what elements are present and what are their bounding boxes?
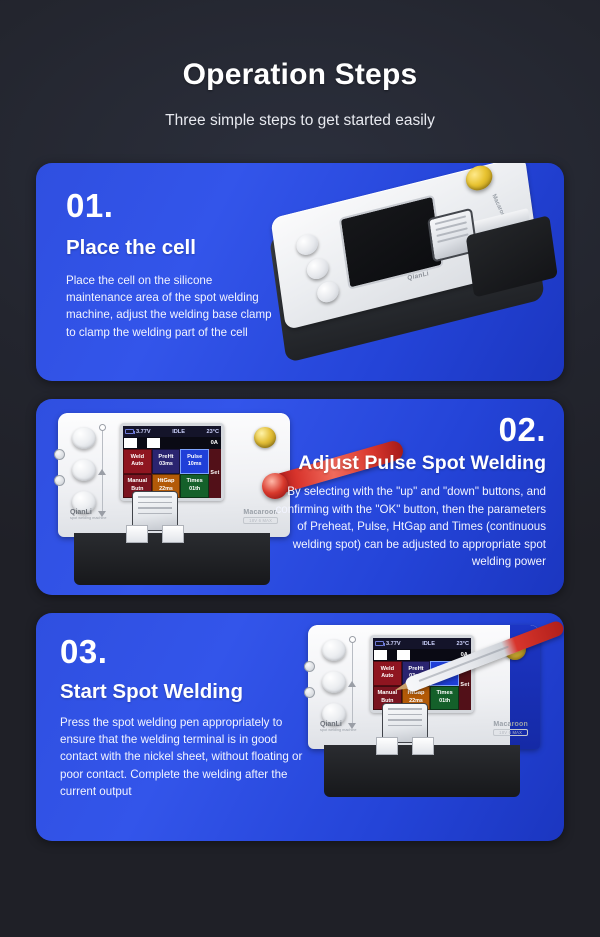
param-times: Times01th	[180, 474, 209, 499]
param-pulse: Pulse10ms	[180, 449, 209, 474]
level-segment	[147, 438, 160, 448]
param-weld: WeldAuto	[373, 661, 402, 686]
step2-number: 02.	[264, 413, 546, 446]
param-times: Times01th	[430, 686, 459, 711]
clamp-ridge	[138, 502, 172, 504]
screen-content: 3.77V IDLE 23°C 0A WeldAut	[123, 426, 221, 498]
page-header: Operation Steps Three simple steps to ge…	[0, 0, 600, 130]
machine-brand: Macaroon 18V 6 MAX	[493, 721, 528, 736]
clamp-ridge	[388, 725, 422, 727]
clamp-ridge	[138, 513, 172, 515]
screen-status: IDLE	[172, 429, 185, 435]
step-card-3[interactable]: 3.77V IDLE 23°C 0A WeldAut	[36, 613, 564, 841]
clamp-jaw-left	[126, 525, 148, 543]
clamp-jaw-left	[376, 737, 398, 755]
battery-icon	[125, 429, 134, 434]
control-knob-2	[322, 671, 346, 693]
machine-controls	[68, 425, 114, 521]
clamp-ridge	[388, 719, 422, 721]
clamp-ridge	[388, 708, 422, 710]
machine-screen-2: 3.77V IDLE 23°C 0A WeldAut	[120, 423, 224, 501]
machine-button-3	[316, 279, 340, 304]
step2-body: By selecting with the "up" and "down" bu…	[264, 483, 546, 570]
control-axis	[352, 643, 353, 727]
machine-button-2	[306, 256, 330, 281]
step-card-1[interactable]: QianLi Macaroon 01. Place the cell Place…	[36, 163, 564, 381]
param-preht: PreHt03ms	[152, 449, 181, 474]
screen-set-label: Set	[209, 449, 221, 498]
level-segment	[374, 650, 387, 660]
control-axis	[102, 431, 103, 515]
step-card-2[interactable]: 3.77V IDLE 23°C 0A WeldAut	[36, 399, 564, 595]
battery-icon	[375, 641, 384, 646]
screen-temperature: 23°C	[207, 429, 220, 435]
level-segment	[397, 650, 410, 660]
level-segment	[124, 438, 137, 448]
step2-text: 02. Adjust Pulse Spot Welding By selecti…	[264, 413, 546, 570]
control-knob-2	[72, 459, 96, 481]
screen-current: 0A	[211, 440, 218, 446]
step1-title: Place the cell	[66, 236, 278, 260]
param-weld: WeldAuto	[123, 449, 152, 474]
page-title: Operation Steps	[0, 58, 600, 92]
step1-illustration: QianLi Macaroon	[250, 163, 564, 381]
screen-statusbar: 3.77V IDLE 23°C	[123, 426, 221, 437]
step2-title: Adjust Pulse Spot Welding	[264, 452, 546, 474]
output-port-1	[54, 449, 65, 460]
step3-number: 03.	[60, 635, 312, 668]
steps-container: QianLi Macaroon 01. Place the cell Place…	[0, 163, 600, 841]
up-arrow-icon	[348, 681, 356, 687]
up-arrow-icon	[98, 469, 106, 475]
machine-controls	[318, 637, 364, 733]
clamp-ridge	[138, 507, 172, 509]
output-port-2	[54, 475, 65, 486]
screen-statusbar: 3.77V IDLE 23°C	[373, 638, 471, 649]
machine-logo: QianLi spot welding machine	[70, 509, 107, 520]
machine-button-1	[295, 232, 319, 257]
screen-levelbar: 0A	[123, 437, 221, 449]
step1-body: Place the cell on the silicone maintenan…	[66, 272, 278, 342]
clamp-jaw-right	[412, 737, 434, 755]
step1-number: 01.	[66, 189, 278, 222]
screen-temperature: 23°C	[457, 641, 470, 647]
welding-machine-tilted: QianLi Macaroon	[265, 163, 564, 381]
battery-voltage: 3.77V	[375, 641, 401, 647]
machine-logo: QianLi spot welding machine	[320, 721, 357, 732]
step3-title: Start Spot Welding	[60, 680, 312, 704]
page-subtitle: Three simple steps to get started easily	[0, 112, 600, 130]
control-knob-1	[322, 639, 346, 661]
step3-text: 03. Start Spot Welding Press the spot we…	[60, 635, 312, 801]
gold-knob-icon	[464, 163, 494, 193]
control-knob-1	[72, 427, 96, 449]
battery-voltage: 3.77V	[125, 429, 151, 435]
screen-status: IDLE	[422, 641, 435, 647]
step3-body: Press the spot welding pen appropriately…	[60, 714, 312, 801]
ok-marker-icon	[99, 424, 106, 431]
welding-machine-front-2: 3.77V IDLE 23°C 0A WeldAut	[58, 413, 290, 589]
clamp-ridge	[388, 714, 422, 716]
clamp-jaw-right	[162, 525, 184, 543]
step1-text: 01. Place the cell Place the cell on the…	[66, 189, 278, 341]
ok-marker-icon	[349, 636, 356, 643]
clamp-ridge	[138, 496, 172, 498]
